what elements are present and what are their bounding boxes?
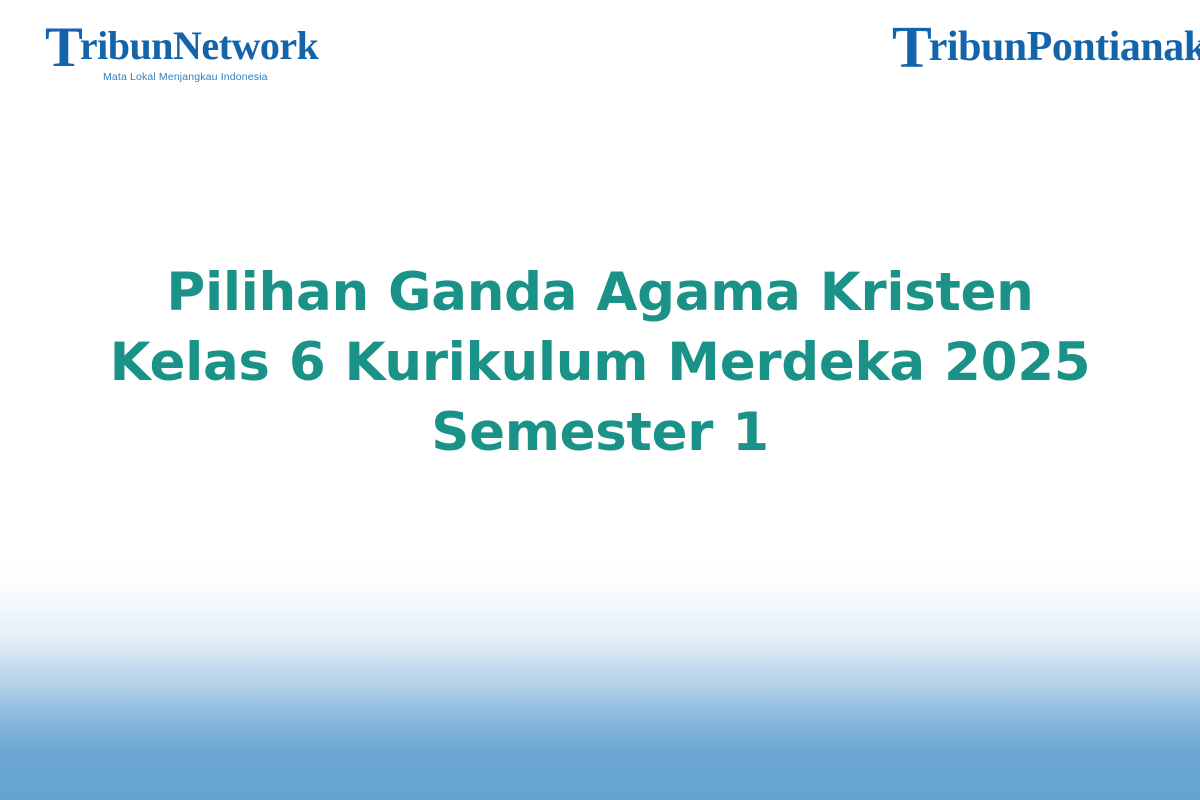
header-logo-bar: TribunNetwork Mata Lokal Menjangkau Indo… [0,0,1200,110]
tribun-network-logo[interactable]: TribunNetwork Mata Lokal Menjangkau Indo… [45,26,275,82]
headline-line-2: Kelas 6 Kurikulum Merdeka 2025 [90,328,1110,398]
headline-line-1: Pilihan Ganda Agama Kristen [90,258,1110,328]
article-cover-card: TribunNetwork Mata Lokal Menjangkau Indo… [0,0,1200,800]
tribun-pontianak-dropcap: T [892,14,931,80]
headline-line-3: Semester 1 [90,398,1110,468]
tribun-network-tagline: Mata Lokal Menjangkau Indonesia [103,71,275,83]
tribun-network-wordmark: TribunNetwork [45,26,275,69]
headline-block: Pilihan Ganda Agama Kristen Kelas 6 Kuri… [0,258,1200,468]
tribun-pontianak-wordmark-text: ribunPontianak [929,24,1200,70]
bottom-gradient-wash [0,560,1200,800]
tribun-network-wordmark-text: ribunNetwork [80,23,318,68]
page-title: Pilihan Ganda Agama Kristen Kelas 6 Kuri… [90,258,1110,468]
tribun-network-dropcap: T [45,16,82,79]
tribun-pontianak-logo[interactable]: TribunPontianak.co.id [892,26,1160,80]
tribun-pontianak-wordmark: TribunPontianak.co.id [892,26,1160,69]
